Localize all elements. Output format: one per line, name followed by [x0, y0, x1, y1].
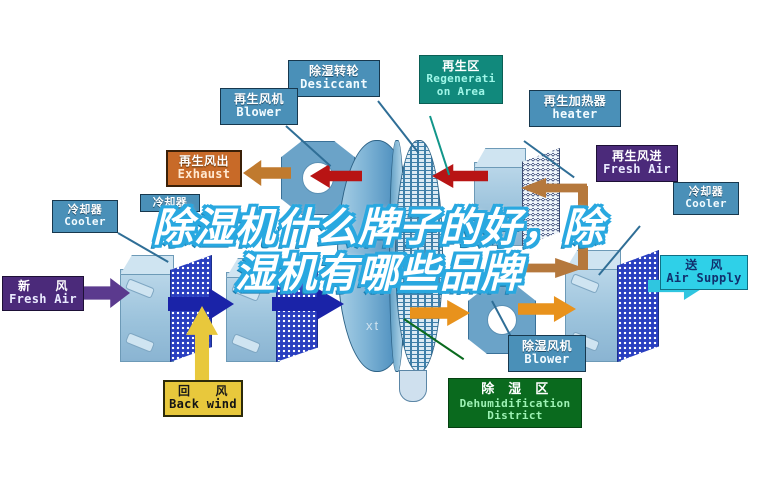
label-air-supply-en: Air Supply [664, 272, 744, 285]
label-back-wind-en: Back wind [168, 398, 238, 411]
label-air-supply-cn: 送 风 [664, 259, 744, 272]
label-air-supply[interactable]: 送 风 Air Supply [660, 255, 748, 290]
label-regeneration-area[interactable]: 再生区 Regenerati on Area [419, 55, 503, 104]
label-regen-exhaust-cn: 再生风出 [171, 155, 237, 168]
label-regen-heater[interactable]: 再生加热器 heater [529, 90, 621, 127]
label-regen-fresh-air-en: Fresh Air [600, 163, 674, 176]
label-fresh-air-in-cn: 新 风 [6, 280, 80, 293]
label-regen-exhaust-en: Exhaust [171, 168, 237, 181]
heater-top [474, 148, 526, 168]
label-dehumid-district-cn: 除 湿 区 [453, 383, 577, 398]
label-regen-blower[interactable]: 再生风机 Blower [220, 88, 298, 125]
label-regen-fresh-air[interactable]: 再生风进 Fresh Air [596, 145, 678, 182]
supply-cooler-coil [617, 250, 659, 362]
label-back-wind[interactable]: 回 风 Back wind [163, 380, 243, 417]
label-regen-exhaust[interactable]: 再生风出 Exhaust [166, 150, 242, 187]
label-desiccant-rotor-cn: 除湿转轮 [293, 65, 375, 78]
label-regeneration-area-cn: 再生区 [423, 60, 499, 73]
label-regen-heater-cn: 再生加热器 [533, 95, 617, 108]
watermark: xt [366, 318, 380, 333]
label-regen-heater-en: heater [533, 108, 617, 121]
label-dehumid-district[interactable]: 除 湿 区 Dehumidification District [448, 378, 582, 428]
label-fresh-air-in[interactable]: 新 风 Fresh Air [2, 276, 84, 311]
label-regen-fresh-air-cn: 再生风进 [600, 150, 674, 163]
label-cooler-mid[interactable]: 冷却器 [140, 194, 200, 212]
label-dehumid-blower-en: Blower [512, 353, 582, 366]
dehumidifier-diagram: xt [0, 0, 757, 488]
label-cooler-right[interactable]: 冷却器 Cooler [673, 182, 739, 215]
label-regeneration-area-en: Regenerati on Area [423, 73, 499, 98]
label-dehumid-blower-cn: 除湿风机 [512, 340, 582, 353]
cooler-block-left-top [120, 255, 174, 275]
label-desiccant-rotor[interactable]: 除湿转轮 Desiccant [288, 60, 380, 97]
label-cooler-left-en: Cooler [56, 216, 114, 228]
label-cooler-mid-cn: 冷却器 [144, 197, 196, 209]
condensate-drain [399, 370, 427, 402]
label-cooler-left[interactable]: 冷却器 Cooler [52, 200, 118, 233]
cooler-block-mid-top [226, 258, 280, 278]
label-dehumid-blower[interactable]: 除湿风机 Blower [508, 335, 586, 372]
label-regen-blower-cn: 再生风机 [225, 93, 293, 106]
label-desiccant-rotor-en: Desiccant [293, 78, 375, 91]
label-fresh-air-in-en: Fresh Air [6, 293, 80, 306]
fresh-air-duct-vertical [578, 186, 588, 270]
label-cooler-right-en: Cooler [677, 198, 735, 210]
label-dehumid-district-en: Dehumidification District [453, 398, 577, 423]
label-back-wind-cn: 回 风 [168, 385, 238, 398]
label-regen-blower-en: Blower [225, 106, 293, 119]
